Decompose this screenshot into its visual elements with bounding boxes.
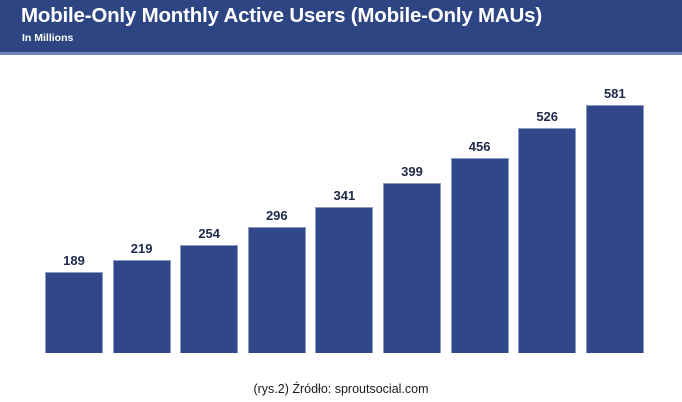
bar-column: 254 [180,1,238,353]
bar-value-label: 219 [113,241,171,256]
bar-value-label: 341 [315,188,373,203]
chart-plot-area: 189219254296341399456526581 Q1'13Q2'13Q3… [0,55,682,353]
bar-value-label: 456 [451,139,509,154]
source-caption: (rys.2) Źródło: sproutsocial.com [0,382,682,396]
bar [518,128,576,353]
bar-column: 456 [451,1,509,353]
bar-column: 581 [586,1,644,353]
bar [248,227,306,353]
bar [113,260,171,353]
bar-column: 219 [113,1,171,353]
bar-value-label: 526 [518,109,576,124]
bar-value-label: 296 [248,208,306,223]
bar-value-label: 189 [45,253,103,268]
bar [180,245,238,353]
bar-value-label: 399 [383,164,441,179]
bar-column: 189 [45,1,103,353]
bar [45,272,103,353]
bar-value-label: 581 [586,86,644,101]
bar [315,207,373,353]
bar-column: 296 [248,1,306,353]
bar-column: 526 [518,1,576,353]
bar [586,105,644,353]
chart-screenshot: Mobile-Only Monthly Active Users (Mobile… [0,0,682,402]
bar [383,183,441,353]
bar-column: 341 [315,1,373,353]
bar [451,158,509,353]
bar-value-label: 254 [180,226,238,241]
bar-column: 399 [383,1,441,353]
